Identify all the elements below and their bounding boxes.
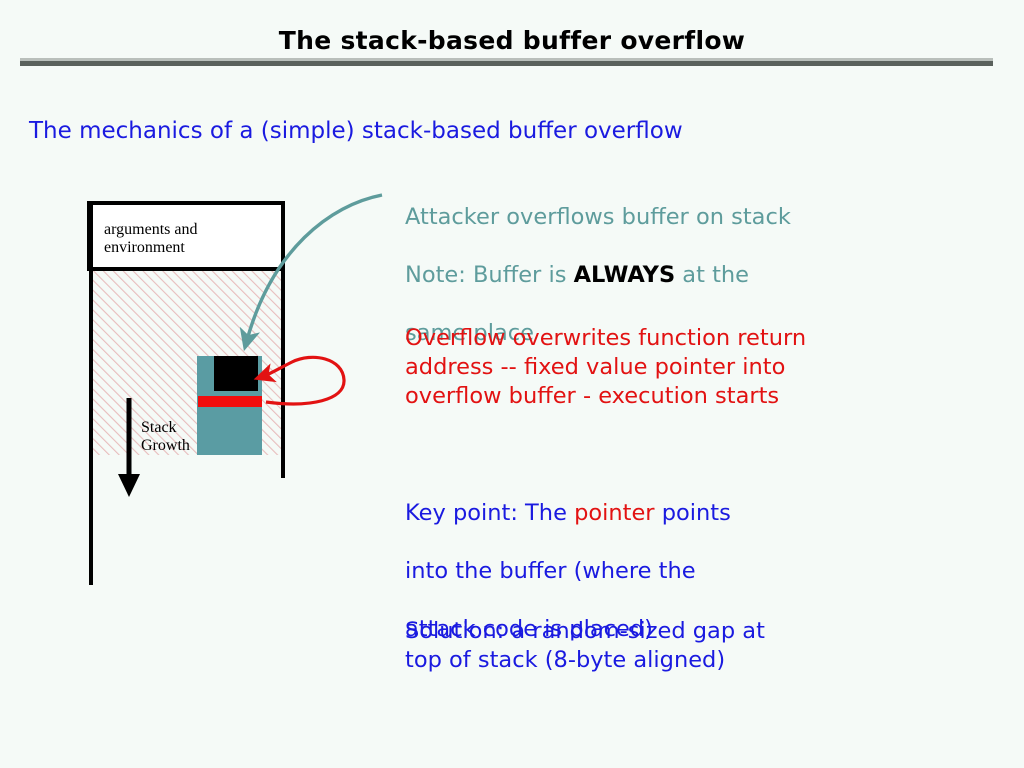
- note-attacker-emphasis: ALWAYS: [574, 262, 676, 288]
- args-env-label-line2: environment: [104, 239, 197, 257]
- note-keypoint-line1-pre: Key point: The: [405, 500, 574, 526]
- stack-growth-label-line1: Stack: [141, 419, 190, 437]
- process-memory-stack-diagram: arguments and environment Stack Growth: [0, 0, 430, 640]
- stack-growth-label: Stack Growth: [141, 419, 190, 456]
- attack-code-block: [214, 356, 258, 391]
- note-keypoint-emphasis: pointer: [574, 500, 654, 526]
- note-keypoint-line2: into the buffer (where the: [405, 557, 731, 586]
- stack-diagram-svg: [0, 0, 430, 640]
- stack-growth-arrow-head: [118, 474, 140, 497]
- note-overflow: Overflow overwrites function return addr…: [405, 324, 806, 411]
- stack-growth-label-line2: Growth: [141, 437, 190, 455]
- slide-root: The stack-based buffer overflow The mech…: [0, 0, 1024, 768]
- note-keypoint-line1: Key point: The pointer points: [405, 499, 731, 528]
- note-keypoint-line1-post: points: [655, 500, 731, 526]
- note-attacker-line1: Attacker overflows buffer on stack: [405, 203, 791, 232]
- note-attacker-line2-pre: Note: Buffer is: [405, 262, 574, 288]
- note-solution: Solution: a random-sized gap at top of s…: [405, 617, 765, 675]
- note-attacker-line2-post: at the: [675, 262, 749, 288]
- args-env-label-line1: arguments and: [104, 221, 197, 239]
- args-env-label: arguments and environment: [104, 221, 197, 258]
- note-attacker-line2: Note: Buffer is ALWAYS at the: [405, 261, 791, 290]
- return-address-bar: [198, 396, 262, 407]
